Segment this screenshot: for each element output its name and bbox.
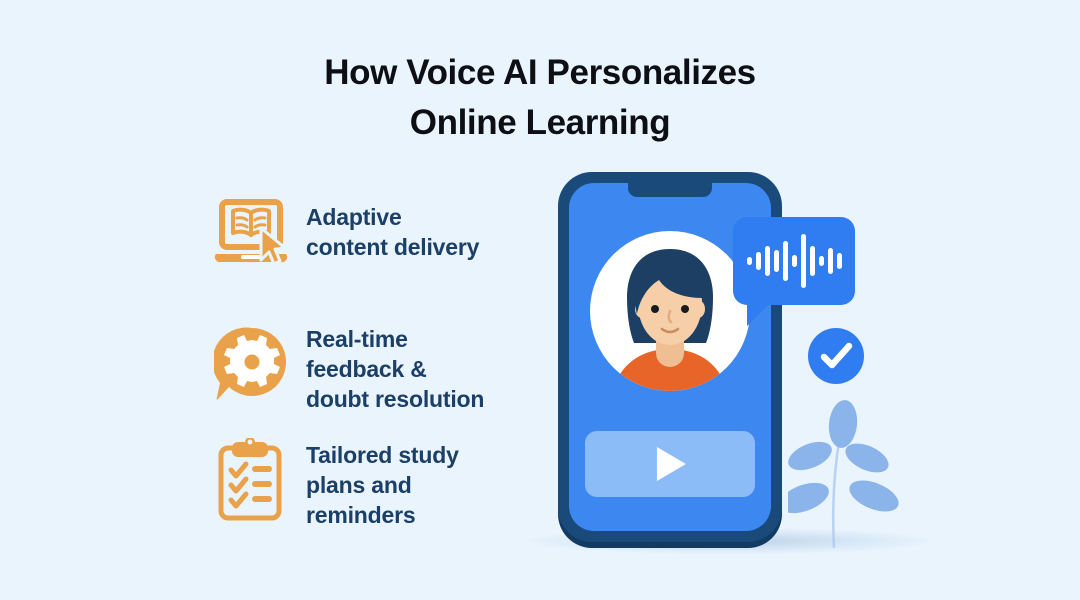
decorative-plant — [788, 400, 928, 550]
voice-waveform-bubble — [733, 217, 855, 305]
student-avatar — [590, 231, 750, 391]
page-title: How Voice AI Personalizes Online Learnin… — [0, 48, 1080, 148]
waveform-bar — [774, 250, 779, 272]
waveform-bar — [837, 253, 842, 269]
waveform-bar — [810, 246, 815, 276]
feature-label: Real-time feedback & doubt resolution — [306, 324, 484, 414]
title-line-1: How Voice AI Personalizes — [0, 48, 1080, 98]
waveform-bar — [783, 241, 788, 281]
phone-illustration — [500, 150, 950, 580]
clipboard-checklist-icon — [214, 438, 294, 524]
feature-label-line: Adaptive — [306, 202, 479, 232]
waveform-bar — [747, 257, 752, 265]
feature-list: Adaptive content delivery Real-time feed… — [214, 196, 544, 554]
feature-label: Adaptive content delivery — [306, 196, 479, 262]
feature-item-adaptive-content: Adaptive content delivery — [214, 196, 544, 282]
feature-item-realtime-feedback: Real-time feedback & doubt resolution — [214, 324, 544, 414]
waveform-bar — [828, 248, 833, 274]
feature-label: Tailored study plans and reminders — [306, 438, 459, 530]
feature-item-tailored-plans: Tailored study plans and reminders — [214, 438, 544, 530]
gear-speech-bubble-icon — [214, 324, 294, 410]
phone-notch — [628, 183, 712, 197]
title-line-2: Online Learning — [0, 98, 1080, 148]
feature-label-line: reminders — [306, 500, 459, 530]
check-badge-icon — [808, 328, 864, 384]
play-icon[interactable] — [657, 447, 686, 481]
laptop-book-cursor-icon — [214, 196, 294, 282]
voice-waveform — [733, 217, 855, 305]
feature-label-line: doubt resolution — [306, 384, 484, 414]
feature-label-line: content delivery — [306, 232, 479, 262]
feature-label-line: plans and — [306, 470, 459, 500]
waveform-bar — [801, 234, 806, 288]
feature-label-line: Tailored study — [306, 440, 459, 470]
waveform-bar — [819, 256, 824, 266]
waveform-bar — [792, 255, 797, 267]
waveform-bar — [765, 246, 770, 276]
video-player-card[interactable] — [585, 431, 755, 497]
waveform-bar — [756, 252, 761, 270]
feature-label-line: feedback & — [306, 354, 484, 384]
feature-label-line: Real-time — [306, 324, 484, 354]
infographic-canvas: How Voice AI Personalizes Online Learnin… — [0, 0, 1080, 600]
